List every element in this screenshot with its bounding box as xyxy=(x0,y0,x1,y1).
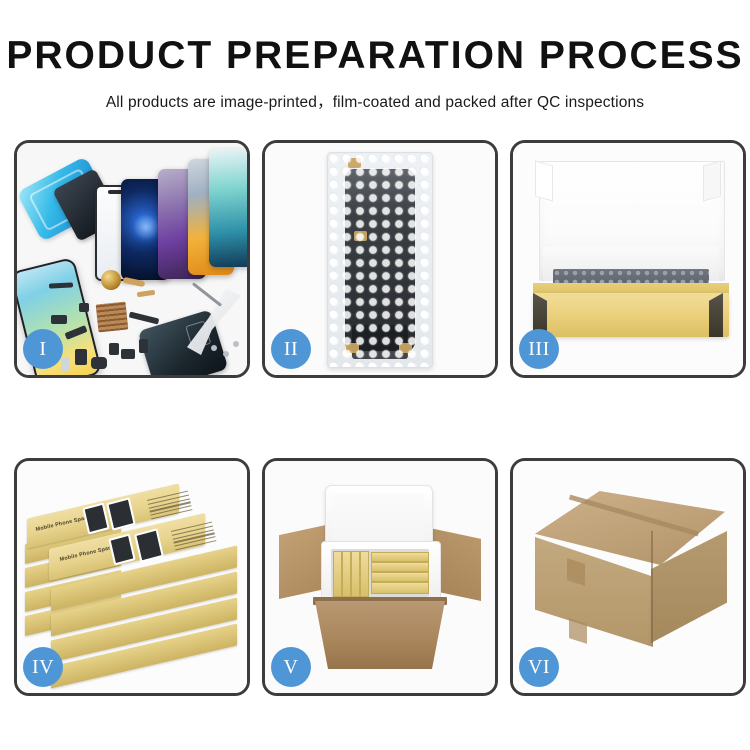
process-step-panel-5[interactable]: V xyxy=(262,458,498,696)
foam-cooler-interior xyxy=(331,549,429,597)
yellow-box-in-cooler-5 xyxy=(371,552,429,562)
step-badge-6: VI xyxy=(519,647,559,687)
page-title: PRODUCT PREPARATION PROCESS xyxy=(0,36,750,75)
process-step-panel-3[interactable]: III xyxy=(510,140,746,378)
yellow-box-in-cooler-4 xyxy=(360,551,369,597)
bubble-wrap-bag xyxy=(327,152,433,368)
step-badge-6-label: VI xyxy=(528,656,550,679)
screwdriver-icon xyxy=(192,282,222,307)
carton-vertical-edge xyxy=(651,531,653,643)
process-step-grid: I II xyxy=(14,140,736,696)
process-step-panel-6[interactable]: VI xyxy=(510,458,746,696)
yellow-box-in-cooler-2 xyxy=(342,551,351,597)
screw-part-2 xyxy=(211,345,217,351)
step-badge-4-label: IV xyxy=(32,656,54,679)
spare-part-bracket xyxy=(51,315,67,324)
process-step-panel-4[interactable]: Mobile Phone Spare Parts Mobile Phone Sp… xyxy=(14,458,250,696)
spare-part-ribbon-cable xyxy=(129,311,160,324)
step-badge-4: IV xyxy=(23,647,63,687)
spare-part-small-chip-4 xyxy=(139,339,148,353)
circuit-board-chip xyxy=(96,302,129,333)
spare-part-small-chip-2 xyxy=(109,343,119,355)
step-badge-2-label: II xyxy=(284,338,298,361)
product-preparation-process-page: PRODUCT PREPARATION PROCESS All products… xyxy=(0,0,750,750)
spare-part-small-chip-3 xyxy=(121,349,135,359)
step-badge-1-label: I xyxy=(39,338,46,361)
yellow-box-in-cooler-8 xyxy=(371,582,429,594)
process-step-panel-1[interactable]: I xyxy=(14,140,250,378)
step-badge-3: III xyxy=(519,329,559,369)
screw-part-3 xyxy=(233,341,239,347)
process-step-panel-2[interactable]: II xyxy=(262,140,498,378)
spare-part-small-chip xyxy=(75,349,87,365)
step-badge-5-label: V xyxy=(284,656,299,679)
carton-front-panel xyxy=(315,601,445,669)
spare-part-bracket-2 xyxy=(79,303,89,312)
spare-part-sim-tray xyxy=(61,357,70,371)
speaker-coil-part xyxy=(101,270,121,290)
page-subtitle: All products are image-printed，film-coat… xyxy=(0,90,750,112)
yellow-box-in-cooler-6 xyxy=(371,562,429,572)
step-badge-1: I xyxy=(23,329,63,369)
yellow-box-in-cooler-3 xyxy=(351,551,360,597)
yellow-box-in-cooler xyxy=(333,551,342,597)
step-badge-5: V xyxy=(271,647,311,687)
bubble-texture-overlay xyxy=(328,153,432,367)
screw-part xyxy=(223,351,229,357)
step-badge-3-label: III xyxy=(528,338,549,361)
box-front-panel xyxy=(533,293,729,337)
spare-part-camera-module xyxy=(91,357,107,369)
page-header: PRODUCT PREPARATION PROCESS All products… xyxy=(0,0,750,112)
box-lid-flap-left xyxy=(535,160,553,201)
foam-cooler-lid xyxy=(325,485,433,549)
spare-part-flex-gold-2 xyxy=(137,290,156,297)
step-badge-2: II xyxy=(271,329,311,369)
box-lid-flap-right xyxy=(703,160,721,201)
phone-teal-display xyxy=(209,149,247,267)
yellow-box-in-cooler-7 xyxy=(371,572,429,582)
